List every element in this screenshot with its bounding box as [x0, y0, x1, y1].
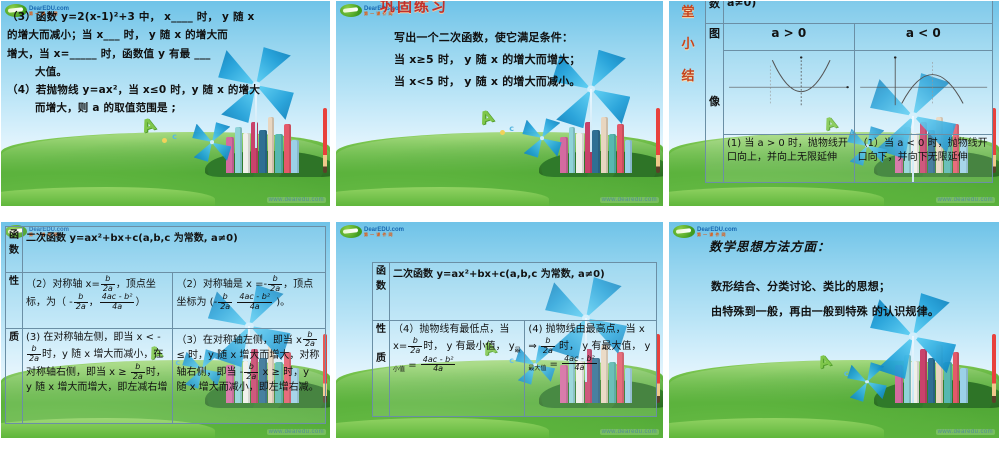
row-label-function: 函数 — [373, 263, 390, 321]
dot-icon — [500, 130, 505, 135]
watermark: www.dearedu.com — [600, 429, 659, 435]
letter-c-icon: c — [844, 369, 849, 378]
logo-text: DearEDU.com第 一 课 件 网 — [697, 227, 737, 237]
letter-a-icon: A — [477, 106, 496, 129]
slide-cell-6[interactable]: A c DearEDU.com第 一 课 件 网 数学思想方法方面： 数形结合、… — [664, 216, 1000, 461]
slide-2-text: 写出一个二次函数，使它满足条件： 当 x≥5 时， y 随 x 的增大而增大； … — [394, 27, 655, 93]
cell-left-property-2: （2）对称轴 x=b2a，顶点坐标，为（ -b2a，4ac - b²4a） — [23, 273, 173, 328]
slide-5[interactable]: A c DearEDU.com第 一 课 件 网 函数 二次函数 y=ax²+b… — [335, 221, 664, 439]
table-header-function: 二次函数 y=ax²+bx+c(a,b,c 为常数, a≠0) — [23, 227, 326, 273]
fraction-b-2a: b2a — [101, 275, 115, 293]
cell-right-property-2: （2）对称轴是 x =-b2a，顶点坐标为 (-b2a 4ac - b²4a )… — [173, 273, 326, 328]
letter-c-icon: c — [509, 124, 514, 133]
slide-4[interactable]: A c DearEDU.com第 一 课 件 网 函数 二次函数 y=ax²+b… — [0, 221, 331, 439]
watermark: www.dearedu.com — [600, 197, 659, 203]
slide-6[interactable]: A c DearEDU.com第 一 课 件 网 数学思想方法方面： 数形结合、… — [668, 221, 1000, 439]
row-label-graph: 图 像 — [706, 23, 724, 182]
graph-cell-a-positive — [724, 50, 855, 134]
slide-2[interactable]: A c DearEDU.com第 一 课 件 网 巩固练习 写出一个二次函数，使… — [335, 0, 664, 207]
slide-2-line-2: 当 x≥5 时， y 随 x 的增大而增大； — [394, 49, 655, 71]
slide-2-title: 巩固练习 — [380, 0, 448, 16]
table-header-function: a≠0) — [724, 0, 993, 23]
slide-cell-2[interactable]: A c DearEDU.com第 一 课 件 网 巩固练习 写出一个二次函数，使… — [331, 0, 664, 216]
row-label-function: 函数 — [6, 227, 23, 273]
watermark: www.dearedu.com — [267, 197, 326, 203]
pinwheel-icon-small — [522, 120, 561, 157]
fraction-disc: 4ac - b²4a — [100, 293, 135, 311]
slide-6-title: 数学思想方法方面： — [709, 236, 831, 255]
slide-6-line-1: 数形结合、分类讨论、类比的思想； — [711, 274, 991, 299]
row-label-function: 数 — [706, 0, 724, 23]
logo-oval-icon — [340, 4, 362, 17]
pencil-icon — [992, 334, 996, 403]
slide-1-line-3: 增大，当 x=_____ 时，函数值 y 有最 ___ — [7, 46, 324, 62]
watermark: www.dearedu.com — [267, 429, 326, 435]
slide-3[interactable]: A c 堂 小 结 数 a≠0) 图 像 a > 0 a < 0 — [668, 0, 1000, 207]
cell-right-property-3: （3）在对称轴左侧，即当 xb2a≤ 时，y 随 x 增大而增大，对称轴右侧，即… — [173, 328, 326, 423]
letter-c-icon: c — [172, 132, 177, 141]
parabola-up-graph — [727, 53, 851, 107]
slide-cell-3[interactable]: A c 堂 小 结 数 a≠0) 图 像 a > 0 a < 0 — [664, 0, 1000, 216]
row-label-nature: 性 — [6, 273, 23, 328]
logo-oval-icon — [340, 225, 362, 238]
col-header-a-positive: a > 0 — [724, 23, 855, 50]
slide-3-table: 数 a≠0) 图 像 a > 0 a < 0 — [705, 0, 993, 183]
row-label-quality: 质 — [6, 328, 23, 423]
graph-cell-a-negative — [854, 50, 992, 134]
sub-label-image: 像 — [709, 94, 720, 110]
logo-oval-icon — [673, 225, 695, 238]
sub-label-graph: 图 — [709, 26, 720, 42]
slide-5-table: 函数 二次函数 y=ax²+bx+c(a,b,c 为常数, a≠0) 性质 （4… — [372, 262, 657, 417]
cell-left-property-4: （4）抛物线有最低点，当 x=b2a时， y 有最小值， y最小值 = 4ac … — [390, 320, 525, 416]
slide-1-line-1: （3）函数 y=2(x-1)²+3 中， x____ 时， y 随 x — [7, 9, 324, 25]
brand-logo: DearEDU.com第 一 课 件 网 — [340, 224, 404, 239]
col-header-a-negative: a < 0 — [854, 23, 992, 50]
table-header-function: 二次函数 y=ax²+bx+c(a,b,c 为常数, a≠0) — [390, 263, 657, 321]
slide-4-table: 函数 二次函数 y=ax²+bx+c(a,b,c 为常数, a≠0) 性 （2）… — [5, 226, 326, 424]
cell-left-property-3: (3) 在对称轴左侧，即当 x < -b2a时，y 随 x 增大而减小，在对称轴… — [23, 328, 173, 423]
note-a-positive: (1) 当 a > 0 时，抛物线开口向上，并向上无限延伸 — [724, 134, 855, 182]
logo-text: DearEDU.com第 一 课 件 网 — [364, 227, 404, 237]
slide-6-line-2: 由特殊到一般，再由一般到特殊 的认识规律。 — [711, 299, 991, 324]
slide-1-line-2: 的增大而减小；当 x___ 时， y 随 x 的增大而 — [7, 27, 324, 43]
watermark: www.dearedu.com — [936, 429, 995, 435]
parabola-down-graph — [858, 53, 989, 107]
slide-1-line-4: 大值。 — [35, 64, 324, 80]
slide-grid: A c DearEDU.com第 一 课 件 网 （3）函数 y=2(x-1)²… — [0, 0, 1000, 461]
slide-1-text: （3）函数 y=2(x-1)²+3 中， x____ 时， y 随 x 的增大而… — [7, 9, 324, 119]
slide-cell-1[interactable]: A c DearEDU.com第 一 课 件 网 （3）函数 y=2(x-1)²… — [0, 0, 331, 216]
pinwheel-icon-small — [847, 365, 887, 400]
watermark: www.dearedu.com — [936, 197, 995, 203]
note-a-negative: （1）当 a < 0 时，抛物线开口向下，并向下无限延伸 — [854, 134, 992, 182]
slide-6-text: 数形结合、分类讨论、类比的思想； 由特殊到一般，再由一般到特殊 的认识规律。 — [711, 274, 991, 325]
slide-1[interactable]: A c DearEDU.com第 一 课 件 网 （3）函数 y=2(x-1)²… — [0, 0, 331, 207]
slide-3-vertical-heading: 堂 小 结 — [675, 0, 701, 93]
row-label-nature-quality: 性质 — [373, 320, 390, 416]
pencil-icon — [656, 108, 660, 174]
slide-2-line-3: 当 x<5 时， y 随 x 的增大而减小。 — [394, 71, 655, 93]
slide-cell-4[interactable]: A c DearEDU.com第 一 课 件 网 函数 二次函数 y=ax²+b… — [0, 216, 331, 461]
slide-cell-5[interactable]: A c DearEDU.com第 一 课 件 网 函数 二次函数 y=ax²+b… — [331, 216, 664, 461]
slide-1-line-5: （4）若抛物线 y=ax²，当 x≤0 时，y 随 x 的增大 — [7, 82, 324, 98]
slide-1-line-6: 而增大，则 a 的取值范围是 ; — [35, 100, 324, 116]
cell-right-property-4: (4) 抛物线由最高点，当 x ⇒ b2a 时， y 有最大值， y最大值 = … — [525, 320, 657, 416]
slide-2-line-1: 写出一个二次函数，使它满足条件： — [394, 27, 655, 49]
pinwheel-icon-small — [192, 124, 231, 161]
